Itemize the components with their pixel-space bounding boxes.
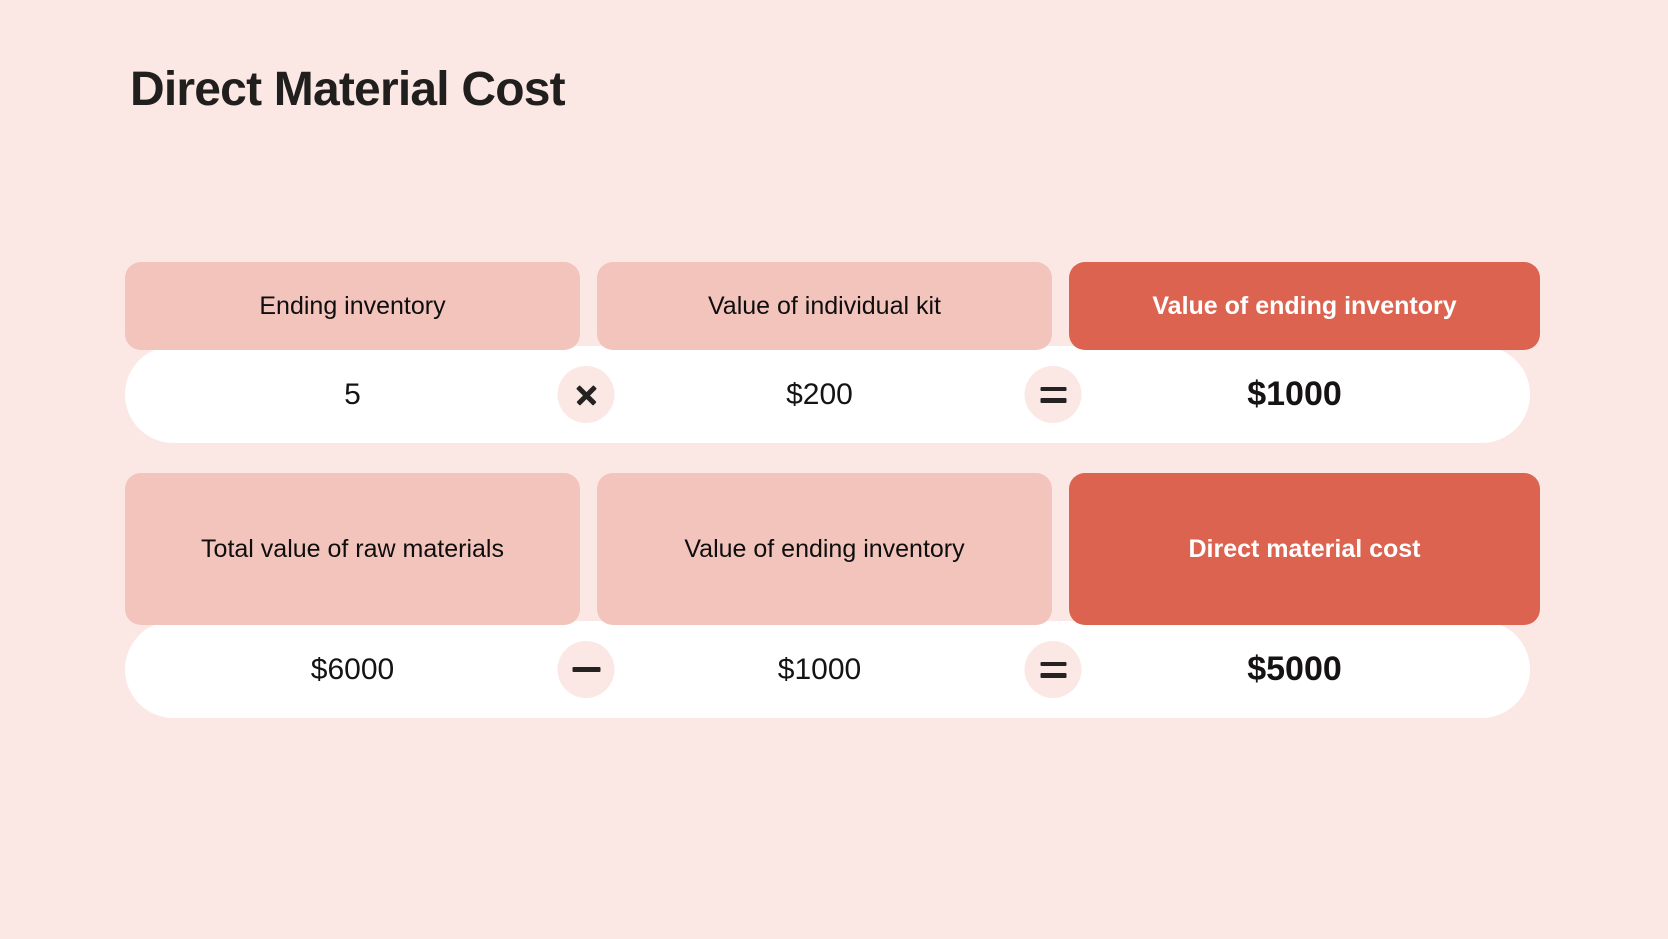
header-strip: Ending inventory Value of individual kit… bbox=[125, 262, 1540, 350]
infographic-page: Direct Material Cost Ending inventory Va… bbox=[0, 0, 1668, 939]
value-operand-b: $1000 bbox=[592, 621, 1047, 718]
header-pill-result: Direct material cost bbox=[1069, 473, 1540, 625]
value-operand-a: 5 bbox=[125, 346, 580, 443]
header-pill-operand-a: Ending inventory bbox=[125, 262, 580, 350]
header-pill-operand-b: Value of individual kit bbox=[597, 262, 1052, 350]
operator-circle-equals bbox=[1025, 641, 1082, 698]
operator-circle-minus bbox=[558, 641, 615, 698]
header-pill-result: Value of ending inventory bbox=[1069, 262, 1540, 350]
value-operand-b: $200 bbox=[592, 346, 1047, 443]
value-result: $5000 bbox=[1059, 621, 1530, 718]
operator-circle-equals bbox=[1025, 366, 1082, 423]
operator-slot-second bbox=[1047, 621, 1059, 718]
header-strip: Total value of raw materials Value of en… bbox=[125, 473, 1540, 625]
equals-icon bbox=[1040, 662, 1066, 678]
header-pill-operand-a: Total value of raw materials bbox=[125, 473, 580, 625]
header-pill-operand-b: Value of ending inventory bbox=[597, 473, 1052, 625]
page-title: Direct Material Cost bbox=[130, 62, 565, 117]
operator-slot-first bbox=[580, 346, 592, 443]
value-bar: $6000 $1000 $5000 bbox=[125, 621, 1530, 718]
formula-row-direct-material-cost: Total value of raw materials Value of en… bbox=[125, 473, 1540, 718]
formula-row-value-of-ending-inventory: Ending inventory Value of individual kit… bbox=[125, 262, 1540, 443]
operator-slot-first bbox=[580, 621, 592, 718]
value-operand-a: $6000 bbox=[125, 621, 580, 718]
equals-icon bbox=[1040, 387, 1066, 403]
value-result: $1000 bbox=[1059, 346, 1530, 443]
multiply-icon bbox=[574, 383, 598, 407]
value-bar: 5 $200 $1000 bbox=[125, 346, 1530, 443]
operator-slot-second bbox=[1047, 346, 1059, 443]
operator-circle-multiply bbox=[558, 366, 615, 423]
minus-icon bbox=[572, 667, 600, 672]
formula-area: Ending inventory Value of individual kit… bbox=[125, 262, 1540, 718]
